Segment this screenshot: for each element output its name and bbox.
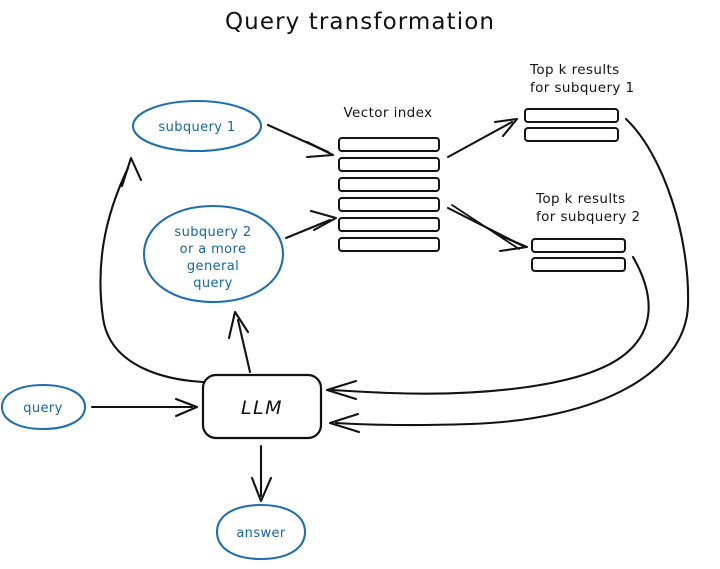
topk-subquery-1-label-line-1: Top k results <box>529 62 620 78</box>
topk-subquery-1-bar <box>525 128 618 141</box>
edge-llm-to-subquery-2 <box>229 312 250 372</box>
vector-index-bar <box>339 218 439 231</box>
group-vector-index: Vector index <box>339 105 439 251</box>
topk-subquery-1-label-line-2: for subquery 1 <box>530 80 634 96</box>
node-answer[interactable]: answer <box>217 505 305 559</box>
edge-llm-to-answer <box>252 446 271 501</box>
diagram-canvas: Query transformation subquery 1 subquery… <box>0 0 720 569</box>
group-topk-subquery-1: Top k results for subquery 1 <box>525 62 634 141</box>
edge-subquery-1-to-vector-index <box>268 125 333 157</box>
topk-subquery-1-bar <box>525 109 618 122</box>
edge-subquery-2-to-vector-index <box>286 211 336 238</box>
vector-index-label: Vector index <box>343 105 432 121</box>
vector-index-bar <box>339 198 439 211</box>
topk-subquery-2-bar <box>532 258 625 271</box>
vector-index-bar <box>339 158 439 171</box>
node-llm[interactable]: LLM <box>203 375 321 438</box>
subquery-2-label-line-2: or a more <box>180 242 247 257</box>
topk-subquery-2-bar <box>532 239 625 252</box>
node-query[interactable]: query <box>2 385 85 429</box>
vector-index-bar <box>339 238 439 251</box>
edge-topk-2-to-llm <box>327 257 649 399</box>
query-transformation-diagram: Query transformation subquery 1 subquery… <box>0 0 720 569</box>
edge-vector-index-to-topk-1 <box>448 119 517 157</box>
edge-vector-index-to-topk-2 <box>448 205 527 251</box>
group-topk-subquery-2: Top k results for subquery 2 <box>532 191 640 271</box>
node-subquery-2[interactable]: subquery 2 or a more general query <box>144 206 283 302</box>
subquery-2-label-line-4: query <box>193 276 233 291</box>
node-subquery-1[interactable]: subquery 1 <box>133 101 261 151</box>
query-label: query <box>23 401 63 416</box>
vector-index-bar <box>339 138 439 151</box>
subquery-2-label-line-3: general <box>187 259 239 274</box>
edge-query-to-llm <box>92 399 197 416</box>
answer-label: answer <box>236 526 286 541</box>
subquery-2-label-line-1: subquery 2 <box>174 225 251 240</box>
topk-subquery-2-label-line-2: for subquery 2 <box>536 209 640 225</box>
subquery-1-label: subquery 1 <box>158 120 235 135</box>
diagram-title: Query transformation <box>225 9 495 35</box>
topk-subquery-2-label-line-1: Top k results <box>535 191 626 207</box>
vector-index-bar <box>339 178 439 191</box>
llm-label: LLM <box>241 397 283 419</box>
